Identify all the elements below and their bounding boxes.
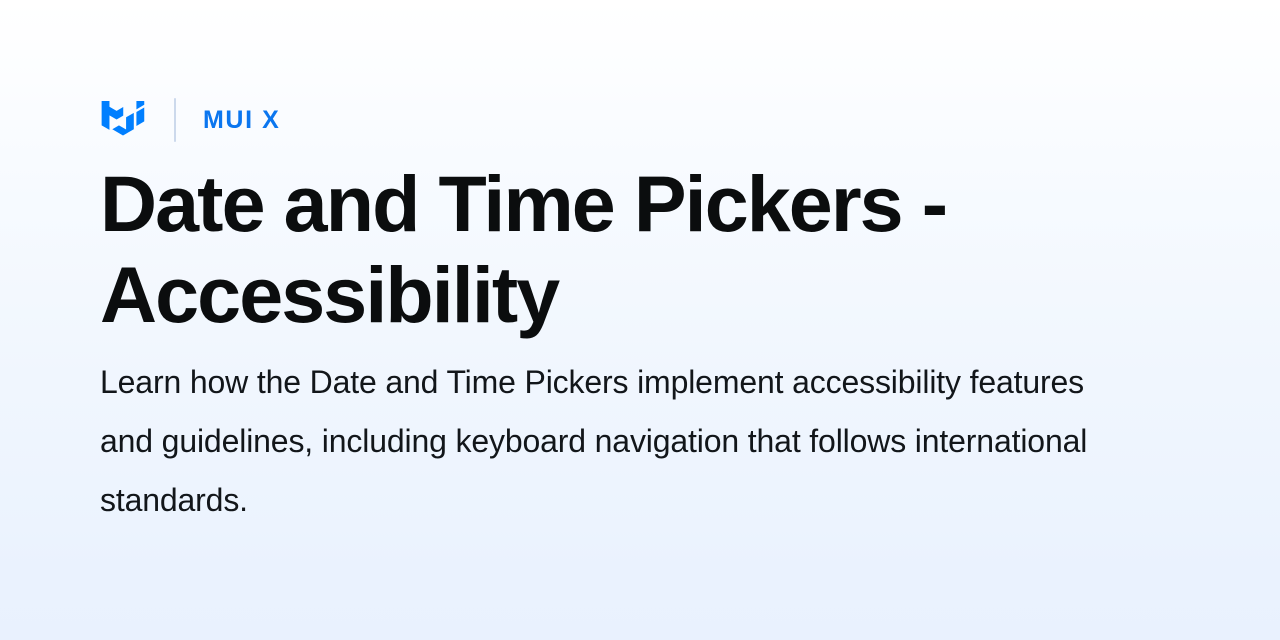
og-card: MUI X Date and Time Pickers - Accessibil… <box>0 0 1280 640</box>
brand-divider <box>174 98 176 142</box>
page-title: Date and Time Pickers - Accessibility <box>100 158 1100 340</box>
card-content: MUI X Date and Time Pickers - Accessibil… <box>100 0 1180 640</box>
mui-logo-icon <box>100 101 146 139</box>
product-name: MUI X <box>203 108 280 133</box>
page-description: Learn how the Date and Time Pickers impl… <box>100 353 1135 530</box>
brand-row: MUI X <box>100 97 280 143</box>
